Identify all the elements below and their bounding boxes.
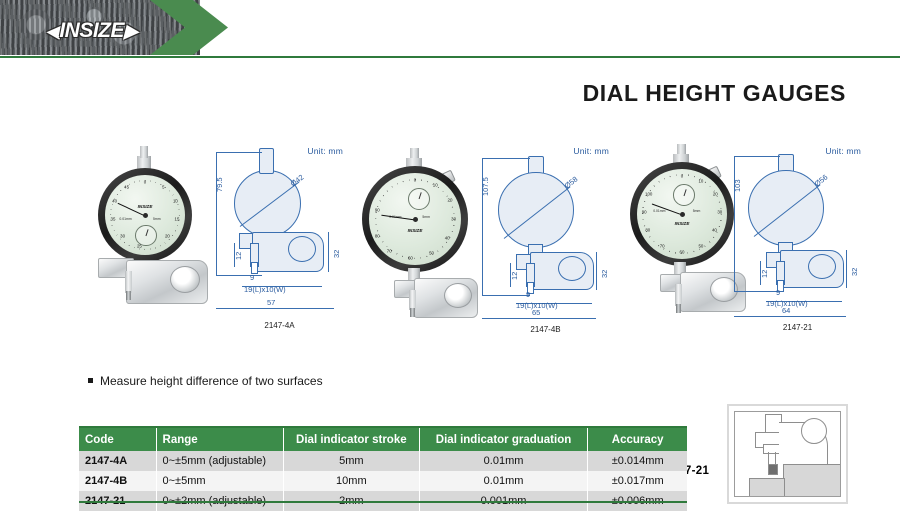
dial-sub-counter: [135, 225, 156, 246]
cell-accuracy: ±0.017mm: [588, 471, 687, 491]
cell-graduation: 0.01mm: [419, 451, 588, 471]
cell-range: 0~±5mm: [156, 471, 283, 491]
dimension-drawing-2147-4B: Unit: mm Ø58 107.5 32 12 9 19(L)x10(W) 6…: [478, 140, 613, 340]
insize-logo: ◀INSIZE▶: [46, 19, 137, 43]
column-header-range: Range: [156, 428, 283, 451]
unit-label: Unit: mm: [573, 146, 609, 156]
dial-sub-counter: [408, 188, 430, 210]
page-header: ◀INSIZE▶: [0, 0, 900, 58]
app-contact-tip: [768, 464, 778, 475]
page-title: DIAL HEIGHT GAUGES: [583, 80, 846, 107]
drawing-caption: 2147-21: [730, 323, 865, 332]
cell-code: 2147-4A: [79, 451, 156, 471]
dim-depth: 32: [332, 250, 341, 258]
dim-overall-width: 64: [782, 306, 790, 315]
dim-tip-width: 9: [250, 273, 254, 282]
cell-range: 0~±5mm (adjustable): [156, 451, 283, 471]
bullet-square-icon: [88, 378, 93, 383]
logo-right-arrow-icon: ▶: [124, 21, 137, 41]
logo-text: INSIZE: [59, 19, 124, 42]
cell-code: 2147-4B: [79, 471, 156, 491]
app-workpiece-low: [749, 478, 785, 497]
dim-depth: 32: [850, 268, 859, 276]
table-row: 2147-4B 0~±5mm 10mm 0.01mm ±0.017mm: [79, 471, 687, 491]
dimension-drawing-2147-21: Unit: mm Ø56 103 32 12 9 19(L)x10(W) 64 …: [730, 140, 865, 340]
column-header-accuracy: Accuracy: [588, 428, 687, 451]
dim-height: 107.5: [481, 177, 490, 196]
dial-range-text: 5mm: [693, 209, 701, 213]
app-gauge-hole: [801, 418, 827, 444]
column-header-stroke: Dial indicator stroke: [283, 428, 419, 451]
column-header-code: Code: [79, 428, 156, 451]
feature-bullet-row: Measure height difference of two surface…: [88, 374, 323, 388]
dim-tip-height: 12: [760, 270, 769, 278]
application-illustration: [727, 404, 848, 504]
dim-tip-width: 9: [526, 290, 530, 299]
specifications-table: Code Range Dial indicator stroke Dial in…: [79, 428, 687, 511]
drawing-caption: 2147-4A: [212, 321, 347, 330]
app-workpiece-high: [783, 464, 841, 497]
cell-stroke: 10mm: [283, 471, 419, 491]
dial-range-text: 5mm: [422, 215, 430, 219]
table-row: 2147-4A 0~±5mm (adjustable) 5mm 0.01mm ±…: [79, 451, 687, 471]
logo-left-arrow-icon: ◀: [46, 21, 59, 41]
dimension-drawing-2147-4A: Unit: mm 79.5 Ø42 32 12 9 19(L)x10(W) 57…: [212, 140, 347, 340]
cell-stroke: 5mm: [283, 451, 419, 471]
unit-label: Unit: mm: [307, 146, 343, 156]
dial-range-text: 5mm: [153, 217, 161, 221]
dim-tip-height: 12: [510, 272, 519, 280]
unit-label: Unit: mm: [825, 146, 861, 156]
cell-accuracy: ±0.014mm: [588, 451, 687, 471]
dim-overall-width: 65: [532, 308, 540, 317]
column-header-graduation: Dial indicator graduation: [419, 428, 588, 451]
dim-tip-height: 12: [234, 252, 243, 260]
dial-sub-counter: [673, 184, 695, 206]
dim-overall-width: 57: [267, 298, 275, 307]
dial-brand: INSIZE: [138, 204, 153, 209]
dim-height: 79.5: [215, 177, 224, 192]
dial-brand: INSIZE: [408, 228, 423, 233]
dial-graduation-text: 0.01mm: [653, 209, 665, 213]
dim-height: 103: [733, 179, 742, 192]
table-bottom-rule: [79, 501, 687, 503]
table-header-row: Code Range Dial indicator stroke Dial in…: [79, 428, 687, 451]
cell-graduation: 0.01mm: [419, 471, 588, 491]
dial-graduation-text: 0.01mm: [119, 217, 131, 221]
dial-brand: INSIZE: [675, 221, 690, 226]
dim-tip-width: 9: [776, 288, 780, 297]
drawing-caption: 2147-4B: [478, 325, 613, 334]
header-divider: [0, 56, 900, 58]
feature-bullet-text: Measure height difference of two surface…: [100, 374, 323, 388]
dim-base: 19(L)x10(W): [244, 285, 286, 294]
dim-depth: 32: [600, 270, 609, 278]
